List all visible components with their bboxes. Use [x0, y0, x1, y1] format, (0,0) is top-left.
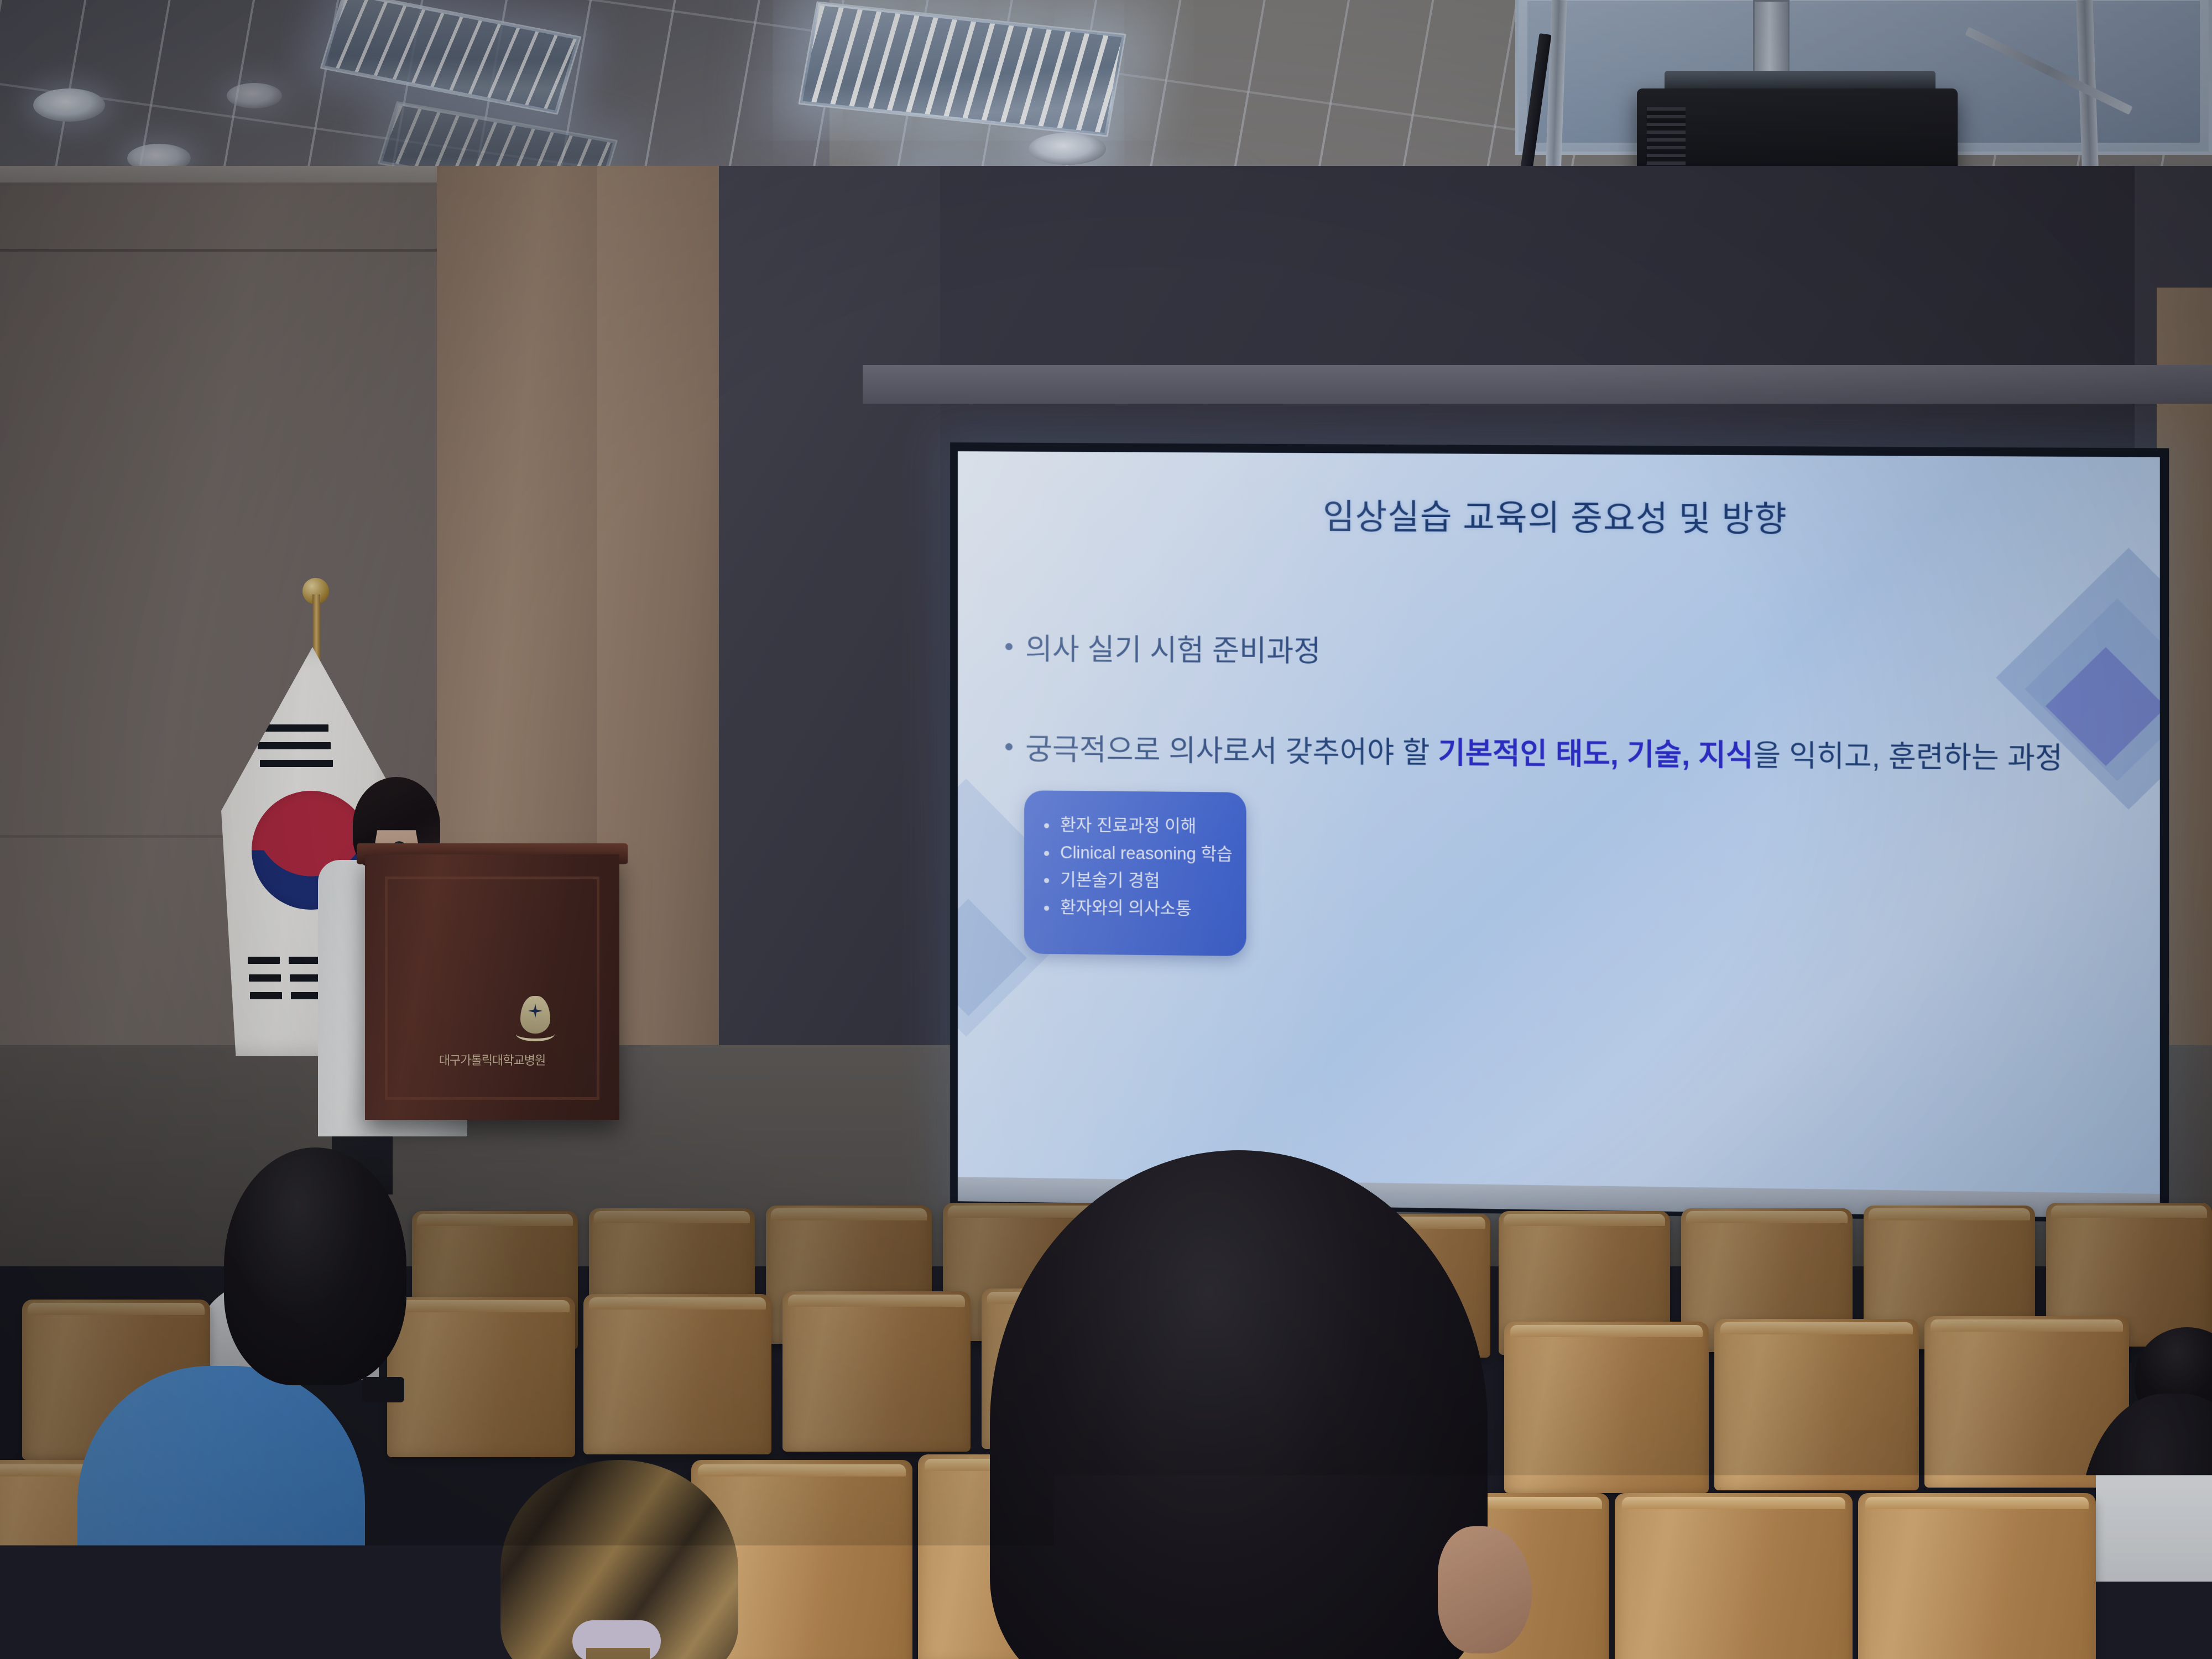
bullet-dot-icon [1005, 643, 1013, 650]
auditorium-seat[interactable] [583, 1294, 771, 1454]
callout-box: 환자 진료과정 이해 Clinical reasoning 학습 기본술기 경험… [1024, 790, 1246, 956]
attendee-head [224, 1147, 406, 1385]
bullet-dot-icon [1005, 743, 1013, 750]
callout-item-label: 환자 진료과정 이해 [1060, 815, 1196, 837]
bullet-dot-icon [1044, 823, 1049, 828]
auditorium-scene: 임상실습 교육의 중요성 및 방향 의사 실기 시험 준비과정 궁극적으로 의사… [0, 0, 2212, 1659]
ceiling-downlight [33, 88, 105, 122]
attendee-badge-clip [362, 1377, 404, 1402]
attendee-ponytail-tail [586, 1648, 650, 1659]
auditorium-seat[interactable] [1714, 1319, 1919, 1490]
bullet-text-highlight: 기본적인 태도, 기술, 지식 [1438, 737, 1753, 773]
screen-header-beam [863, 365, 2212, 404]
auditorium-seat[interactable] [387, 1297, 575, 1457]
list-item: 궁극적으로 의사로서 갖추어야 할 기본적인 태도, 기술, 지식을 익히고, … [1005, 729, 2120, 780]
ceiling-downlight [1029, 133, 1106, 165]
list-item: 환자와의 의사소통 [1044, 898, 1246, 920]
auditorium-seat[interactable] [1858, 1493, 2096, 1659]
callout-list: 환자 진료과정 이해 Clinical reasoning 학습 기본술기 경험… [1024, 790, 1246, 920]
attendee-blue-scrubs [77, 1366, 365, 1659]
bullet-dot-icon [1044, 851, 1049, 855]
wall-recess [719, 166, 962, 1084]
projection-screen[interactable]: 임상실습 교육의 중요성 및 방향 의사 실기 시험 준비과정 궁극적으로 의사… [950, 442, 2169, 1223]
podium-organization-label: 대구가톨릭대학교병원 [365, 1051, 619, 1068]
auditorium-seat[interactable] [782, 1291, 971, 1452]
list-item: 환자 진료과정 이해 [1044, 815, 1246, 837]
hospital-crest-icon [512, 993, 559, 1046]
callout-item-label: Clinical reasoning 학습 [1060, 843, 1233, 865]
slide-title: 임상실습 교육의 중요성 및 방향 [958, 487, 2160, 544]
list-item: 기본술기 경험 [1044, 870, 1246, 892]
bullet-text: 궁극적으로 의사로서 갖추어야 할 기본적인 태도, 기술, 지식을 익히고, … [1025, 729, 2063, 780]
bullet-dot-icon [1044, 906, 1049, 911]
bullet-text-segment: 궁극적으로 의사로서 갖추어야 할 [1025, 733, 1438, 770]
ceiling-downlight [227, 83, 282, 108]
auditorium-seat[interactable] [1615, 1493, 1853, 1659]
callout-item-label: 환자와의 의사소통 [1060, 898, 1192, 919]
presentation-slide: 임상실습 교육의 중요성 및 방향 의사 실기 시험 준비과정 궁극적으로 의사… [958, 451, 2160, 1194]
list-item: 의사 실기 시험 준비과정 [1005, 629, 2120, 679]
bullet-dot-icon [1044, 878, 1049, 883]
callout-item-label: 기본술기 경험 [1060, 870, 1160, 891]
bullet-text: 의사 실기 시험 준비과정 [1025, 629, 1321, 672]
lectern: 대구가톨릭대학교병원 [365, 854, 619, 1120]
bullet-text-segment: 을 익히고, 훈련하는 과정 [1754, 740, 2063, 776]
auditorium-seat[interactable] [1504, 1322, 1709, 1493]
list-item: Clinical reasoning 학습 [1044, 842, 1246, 864]
